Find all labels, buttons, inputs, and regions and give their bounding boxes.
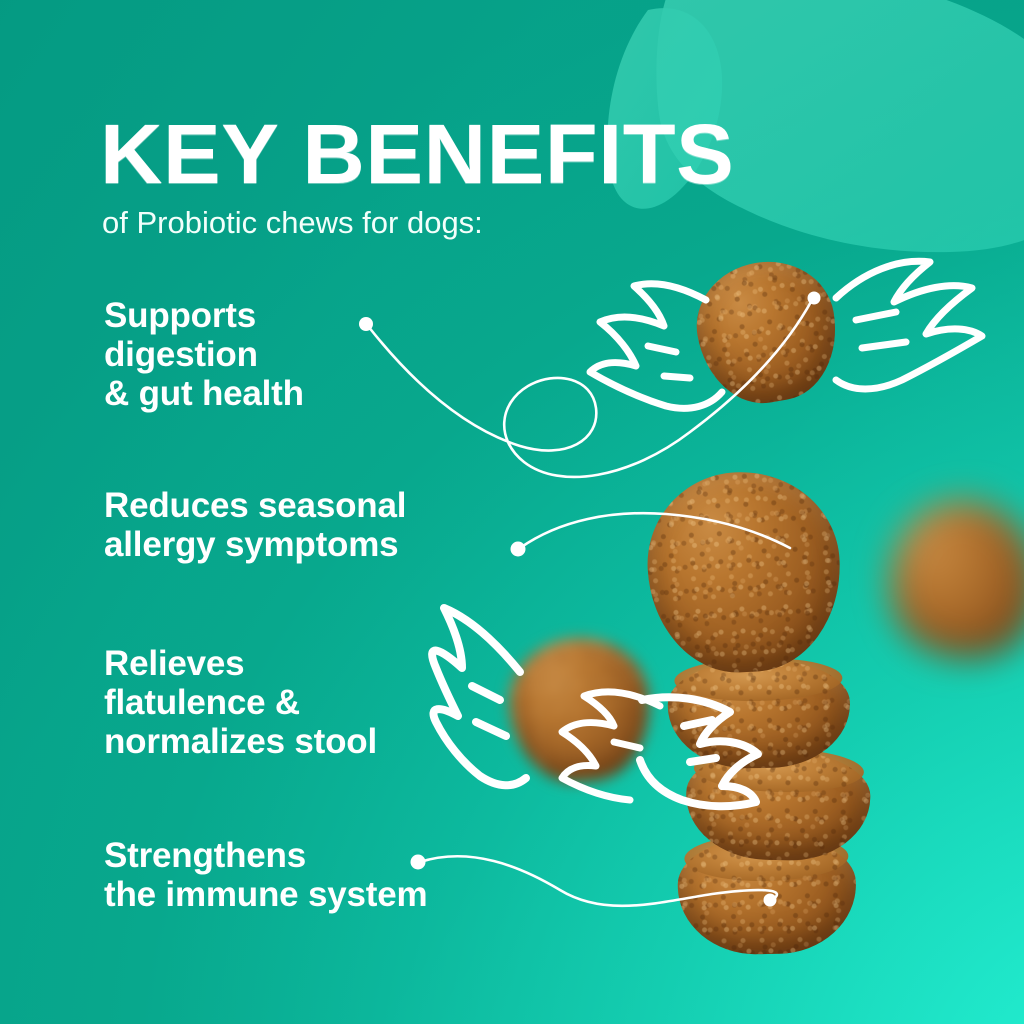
chew-texture <box>503 631 657 789</box>
flying-heart-chew-top <box>687 251 847 413</box>
benefit-dot-2 <box>511 542 526 557</box>
background-chew-right <box>871 484 1024 676</box>
benefit-line: & gut health <box>104 374 304 413</box>
benefit-item-flatulence: Relieves flatulence & normalizes stool <box>104 644 377 762</box>
wing-top-right-icon <box>836 261 982 389</box>
chew-texture <box>871 484 1024 676</box>
infographic-canvas: KEY BENEFITS of Probiotic chews for dogs… <box>0 0 1024 1024</box>
benefit-item-allergy: Reduces seasonal allergy symptoms <box>104 486 406 564</box>
flying-heart-chew-middle <box>503 631 657 789</box>
benefit-item-digestion: Supports digestion & gut health <box>104 296 304 414</box>
page-title: KEY BENEFITS <box>100 116 734 193</box>
benefit-line: the immune system <box>104 875 427 914</box>
benefit-line: flatulence & <box>104 683 377 722</box>
benefit-line: digestion <box>104 335 304 374</box>
chew-texture <box>643 467 845 677</box>
benefit-line: allergy symptoms <box>104 525 406 564</box>
benefit-dot-1 <box>359 317 373 331</box>
page-subtitle: of Probiotic chews for dogs: <box>102 206 483 240</box>
benefit-line: Supports <box>104 296 304 335</box>
chew-texture <box>687 251 847 413</box>
benefit-line: Reduces seasonal <box>104 486 406 525</box>
stack-heart-chew-top <box>643 467 845 677</box>
benefit-item-immune: Strengthens the immune system <box>104 836 427 914</box>
benefit-line: Relieves <box>104 644 377 683</box>
benefit-line: normalizes stool <box>104 722 377 761</box>
benefit-line: Strengthens <box>104 836 427 875</box>
